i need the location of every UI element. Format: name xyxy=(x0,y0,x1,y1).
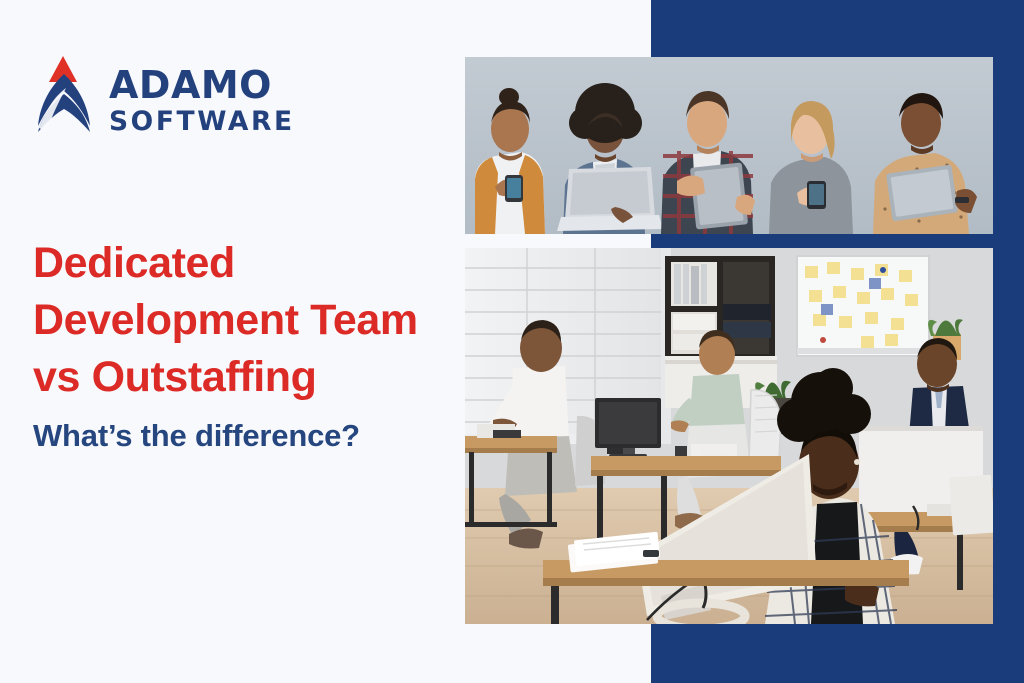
logo[interactable]: ADAMO SOFTWARE xyxy=(33,52,303,140)
adamo-swoosh-a-mark-icon xyxy=(33,52,95,138)
headline-line-3: vs Outstaffing xyxy=(33,349,473,406)
headline-line-2: Development Team xyxy=(33,292,473,349)
subtitle: What’s the difference? xyxy=(33,418,360,454)
logo-primary-text: ADAMO xyxy=(109,66,295,104)
photo-people-with-devices xyxy=(465,57,993,234)
headline-line-1: Dedicated xyxy=(33,235,473,292)
headline: Dedicated Development Team vs Outstaffin… xyxy=(33,235,473,406)
logo-secondary-text: SOFTWARE xyxy=(109,109,295,136)
photo-open-plan-office xyxy=(465,248,993,624)
logo-wordmark: ADAMO SOFTWARE xyxy=(109,66,295,136)
banner: ADAMO SOFTWARE Dedicated Development Tea… xyxy=(0,0,1024,683)
